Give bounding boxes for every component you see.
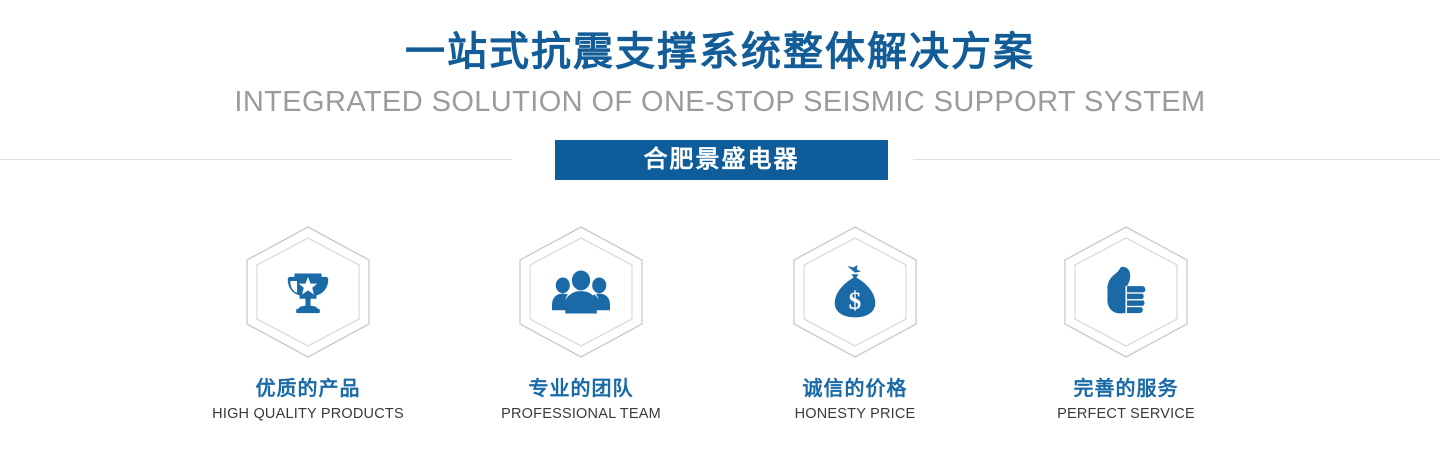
- feature-title-en: PROFESSIONAL TEAM: [481, 402, 681, 423]
- thumbs-up-icon: [1026, 222, 1226, 362]
- team-group-icon: [481, 222, 681, 362]
- divider-left: [0, 159, 512, 160]
- feature-item-honesty-price[interactable]: $ 诚信的价格 HONESTY PRICE: [755, 222, 955, 423]
- feature-title-en: HIGH QUALITY PRODUCTS: [208, 402, 408, 423]
- hex-frame: $: [755, 222, 955, 362]
- feature-title-cn: 诚信的价格: [755, 362, 955, 402]
- feature-title-cn: 优质的产品: [208, 362, 408, 402]
- feature-title-en: HONESTY PRICE: [755, 402, 955, 423]
- feature-title-cn: 完善的服务: [1026, 362, 1226, 402]
- svg-text:$: $: [849, 287, 862, 315]
- money-bag-icon: $: [755, 222, 955, 362]
- hex-frame: [208, 222, 408, 362]
- feature-title-en: PERFECT SERVICE: [1026, 402, 1226, 423]
- company-name-label: 合肥景盛电器: [644, 148, 800, 172]
- page-title: 一站式抗震支撑系统整体解决方案: [0, 0, 1440, 77]
- hex-frame: [481, 222, 681, 362]
- company-name-plate: 合肥景盛电器: [555, 140, 888, 180]
- feature-title-cn: 专业的团队: [481, 362, 681, 402]
- company-plate-row: 合肥景盛电器: [0, 140, 1440, 180]
- feature-item-perfect-service[interactable]: 完善的服务 PERFECT SERVICE: [1026, 222, 1226, 423]
- hex-frame: [1026, 222, 1226, 362]
- trophy-icon: [208, 222, 408, 362]
- promo-banner-section: 一站式抗震支撑系统整体解决方案 INTEGRATED SOLUTION OF O…: [0, 0, 1440, 452]
- feature-item-professional-team[interactable]: 专业的团队 PROFESSIONAL TEAM: [481, 222, 681, 423]
- divider-right: [913, 159, 1440, 160]
- headline-block: 一站式抗震支撑系统整体解决方案 INTEGRATED SOLUTION OF O…: [0, 0, 1440, 120]
- feature-item-high-quality-products[interactable]: 优质的产品 HIGH QUALITY PRODUCTS: [208, 222, 408, 423]
- feature-list: 优质的产品 HIGH QUALITY PRODUCTS: [0, 222, 1440, 432]
- page-subtitle: INTEGRATED SOLUTION OF ONE-STOP SEISMIC …: [0, 77, 1440, 120]
